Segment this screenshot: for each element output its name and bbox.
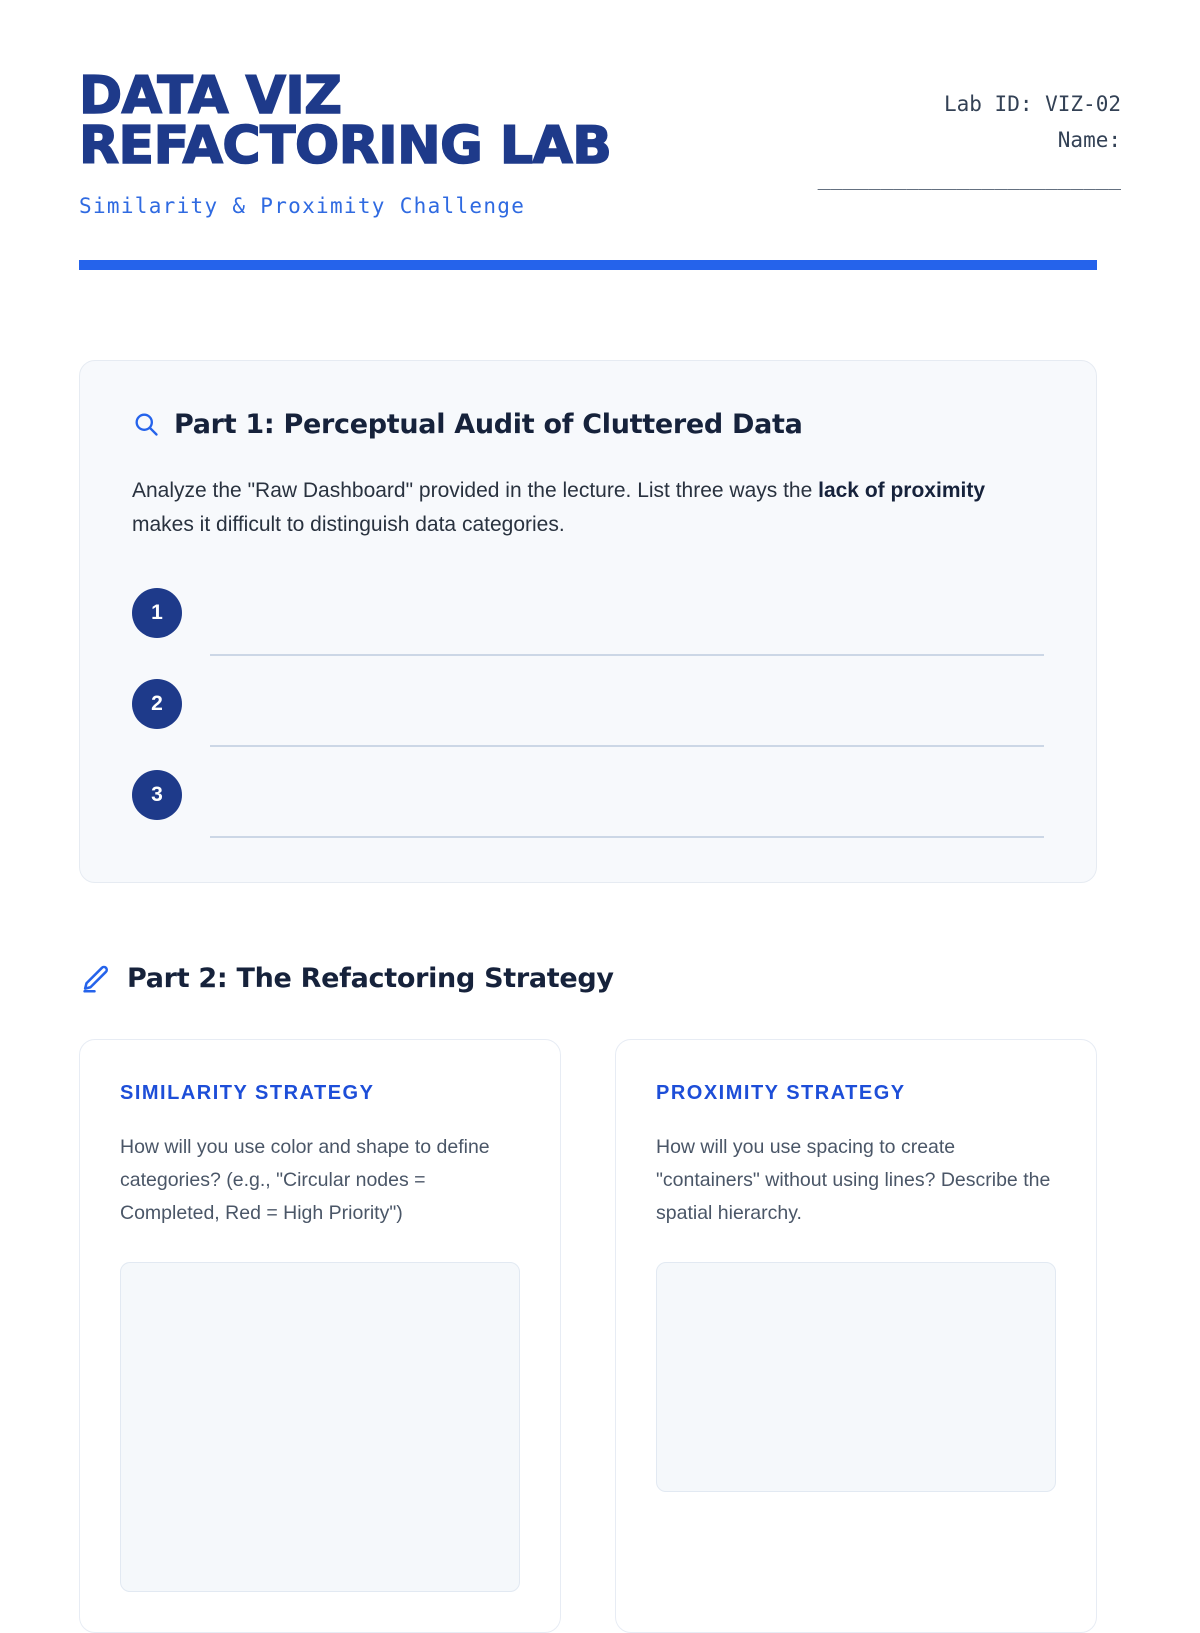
answer-number-badge: 2 xyxy=(132,679,182,729)
page-header: DATA VIZ REFACTORING LAB Similarity & Pr… xyxy=(79,0,1121,218)
answer-row: 3 xyxy=(132,768,1044,838)
answer-row: 1 xyxy=(132,586,1044,656)
proximity-strategy-title: PROXIMITY STRATEGY xyxy=(656,1082,1056,1105)
answer-number-badge: 3 xyxy=(132,770,182,820)
page-subtitle: Similarity & Proximity Challenge xyxy=(79,194,611,218)
name-label: Name: xyxy=(818,122,1121,158)
part-1-prompt: Analyze the "Raw Dashboard" provided in … xyxy=(132,474,1042,542)
similarity-strategy-title: SIMILARITY STRATEGY xyxy=(120,1082,520,1105)
header-meta: Lab ID: VIZ-02 Name: ___________________… xyxy=(818,72,1121,196)
part-1-card: Part 1: Perceptual Audit of Cluttered Da… xyxy=(79,360,1097,883)
prompt-text-emphasis: lack of proximity xyxy=(818,479,985,502)
header-divider xyxy=(79,260,1097,270)
answer-write-line-3[interactable] xyxy=(210,768,1044,838)
lab-id-text: Lab ID: VIZ-02 xyxy=(818,86,1121,122)
title-block: DATA VIZ REFACTORING LAB Similarity & Pr… xyxy=(79,72,611,218)
prompt-text-before: Analyze the "Raw Dashboard" provided in … xyxy=(132,479,818,502)
page-title-line-2: REFACTORING LAB xyxy=(79,116,611,176)
answer-row: 2 xyxy=(132,677,1044,747)
proximity-strategy-card: PROXIMITY STRATEGY How will you use spac… xyxy=(615,1039,1097,1633)
proximity-strategy-description: How will you use spacing to create "cont… xyxy=(656,1131,1056,1230)
similarity-strategy-description: How will you use color and shape to defi… xyxy=(120,1131,520,1230)
part-1-heading: Part 1: Perceptual Audit of Cluttered Da… xyxy=(132,409,1044,440)
pencil-icon xyxy=(79,963,111,995)
part-2-heading: Part 2: The Refactoring Strategy xyxy=(79,963,1121,995)
strategy-card-grid: SIMILARITY STRATEGY How will you use col… xyxy=(79,1039,1097,1633)
similarity-strategy-answer-box[interactable] xyxy=(120,1262,520,1592)
prompt-text-after: makes it difficult to distinguish data c… xyxy=(132,513,565,536)
part-2-title: Part 2: The Refactoring Strategy xyxy=(127,963,614,994)
name-input-rule[interactable]: ________________________ xyxy=(818,160,1121,196)
similarity-strategy-card: SIMILARITY STRATEGY How will you use col… xyxy=(79,1039,561,1633)
worksheet-page: DATA VIZ REFACTORING LAB Similarity & Pr… xyxy=(0,0,1200,1600)
search-icon xyxy=(132,410,160,438)
part-1-title: Part 1: Perceptual Audit of Cluttered Da… xyxy=(174,409,803,440)
page-title: DATA VIZ REFACTORING LAB xyxy=(79,72,611,172)
proximity-strategy-answer-box[interactable] xyxy=(656,1262,1056,1492)
answer-write-line-2[interactable] xyxy=(210,677,1044,747)
answer-write-line-1[interactable] xyxy=(210,586,1044,656)
answer-number-badge: 1 xyxy=(132,588,182,638)
